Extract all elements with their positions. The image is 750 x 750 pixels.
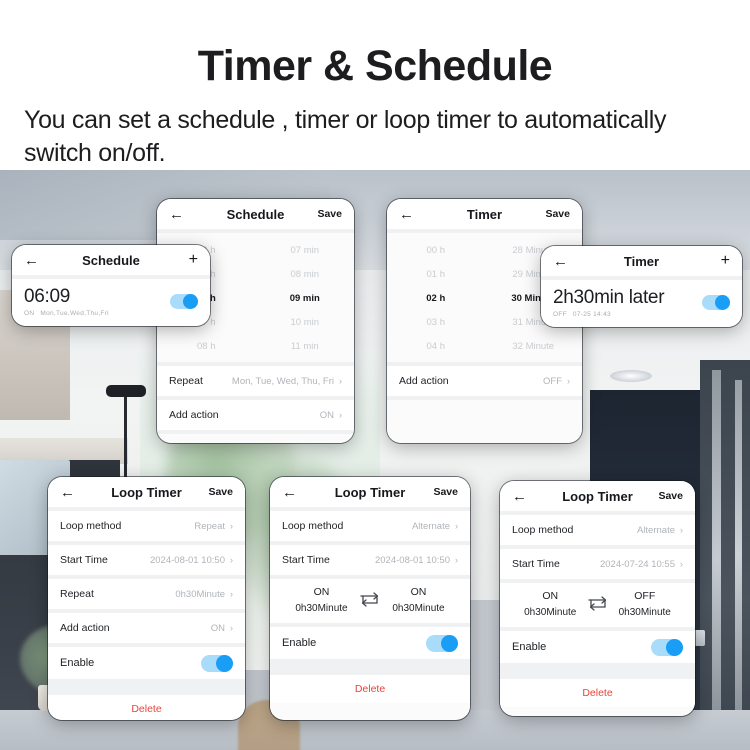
cycle-right-duration: 0h30Minute [611,607,680,618]
row-label: Loop method [60,520,194,532]
chevron-right-icon: › [230,555,233,565]
chevron-right-icon: › [230,623,233,633]
schedule-time: 06:09 [24,286,170,308]
back-arrow-icon[interactable]: ← [60,485,78,500]
cycle-left-state: ON [516,590,585,602]
row-label: Enable [282,637,426,649]
loop-arrows-icon [357,590,383,610]
row-value: OFF [543,376,562,387]
delete-row[interactable]: Delete [48,695,245,720]
picker-minute-selected: 09 min [256,293,355,304]
add-timer-icon[interactable]: + [721,253,730,269]
row-label: Add action [60,622,211,634]
picker-minute: 32 Minute [485,341,583,352]
card-header: ← Loop Timer Save [48,477,245,507]
bg-right-edge-b [735,380,742,730]
divider [270,659,470,675]
row-label: Repeat [60,588,175,600]
page-subtitle: You can set a schedule , timer or loop t… [24,104,726,169]
row-label: Enable [60,657,201,669]
cycle-row[interactable]: ON 0h30Minute OFF 0h30Minute [500,583,695,627]
loop-timer-repeat-card: ← Loop Timer Save Loop method Repeat › S… [48,477,245,720]
save-button[interactable]: Save [317,208,342,220]
picker-row[interactable]: 08 h 11 min [157,334,354,358]
toggle-knob [183,294,198,309]
timer-subtitle: OFF07-25 14:43 [553,311,702,318]
back-arrow-icon[interactable]: ← [169,207,187,222]
picker-hour: 03 h [387,317,485,328]
card-header: ← Loop Timer Save [270,477,470,507]
card-tail [270,703,470,715]
card-tail [500,707,695,716]
cycle-row[interactable]: ON 0h30Minute ON 0h30Minute [270,579,470,623]
picker-minute: 10 min [256,317,355,328]
card-tail [157,434,354,443]
cycle-right[interactable]: ON 0h30Minute [383,586,454,614]
start-time-row[interactable]: Start Time 2024-07-24 10:55 › [500,549,695,579]
cycle-left-duration: 0h30Minute [516,607,585,618]
row-label: Add action [399,375,543,387]
picker-minute: 07 min [256,245,355,256]
repeat-row[interactable]: Repeat 0h30Minute › [48,579,245,609]
row-value: Alternate [412,521,450,532]
row-label: Repeat [169,375,232,387]
cycle-left-state: ON [286,586,357,598]
timer-item-text: 2h30min later OFF07-25 14:43 [553,287,702,318]
timer-summary-card: ← Timer + 2h30min later OFF07-25 14:43 [541,246,742,327]
pendant-lamp-base [106,385,146,397]
card-title: Timer [541,254,742,269]
ceiling-light [610,370,652,382]
save-button[interactable]: Save [208,486,233,498]
chevron-right-icon: › [680,525,683,535]
delete-button[interactable]: Delete [355,683,385,695]
delete-row[interactable]: Delete [500,679,695,707]
row-value: 2024-08-01 10:50 [150,555,225,566]
row-label: Start Time [60,554,150,566]
save-button[interactable]: Save [658,490,683,502]
row-value: 2024-07-24 10:55 [600,559,675,570]
chevron-right-icon: › [455,555,458,565]
back-arrow-icon[interactable]: ← [512,489,530,504]
add-schedule-icon[interactable]: + [189,252,198,268]
picker-hour: 01 h [387,269,485,280]
row-value: Mon, Tue, Wed, Thu, Fri [232,376,334,387]
enable-toggle[interactable] [201,655,233,672]
row-label: Start Time [282,554,375,566]
header-banner: Timer & Schedule You can set a schedule … [0,0,750,170]
bg-right-column [700,360,750,750]
enable-row[interactable]: Enable [270,627,470,659]
toggle-knob [216,655,233,672]
picker-minute: 11 min [256,341,355,352]
cycle-right-state: ON [383,586,454,598]
chevron-right-icon: › [339,376,342,386]
schedule-list-item[interactable]: 06:09 ONMon,Tue,Wed,Thu,Fri [12,279,210,326]
schedule-summary-card: ← Schedule + 06:09 ONMon,Tue,Wed,Thu,Fri [12,245,210,326]
toggle-knob [666,639,683,656]
delete-button[interactable]: Delete [131,703,161,715]
card-header: ← Timer + [541,246,742,276]
page-title: Timer & Schedule [0,42,750,91]
enable-toggle[interactable] [426,635,458,652]
row-label: Loop method [282,520,412,532]
back-arrow-icon[interactable]: ← [553,254,571,269]
chevron-right-icon: › [455,521,458,531]
loop-timer-alternate-card: ← Loop Timer Save Loop method Alternate … [270,477,470,720]
cycle-left[interactable]: ON 0h30Minute [516,590,585,618]
divider [48,679,245,695]
row-label: Loop method [512,524,637,536]
loop-arrows-icon [585,594,611,614]
repeat-row[interactable]: Repeat Mon, Tue, Wed, Thu, Fri › [157,366,354,396]
back-arrow-icon[interactable]: ← [24,253,42,268]
save-button[interactable]: Save [433,486,458,498]
card-header: ← Timer Save [387,199,582,229]
cycle-left[interactable]: ON 0h30Minute [286,586,357,614]
row-value: 2024-08-01 10:50 [375,555,450,566]
picker-row[interactable]: 04 h 32 Minute [387,334,582,358]
row-value: ON [320,410,334,421]
picker-hour: 00 h [387,245,485,256]
start-time-row[interactable]: Start Time 2024-08-01 10:50 › [48,545,245,575]
chevron-right-icon: › [339,410,342,420]
loop-method-row[interactable]: Loop method Repeat › [48,511,245,541]
card-tail [387,400,582,443]
add-action-row[interactable]: Add action OFF › [387,366,582,396]
chevron-right-icon: › [567,376,570,386]
picker-hour: 04 h [387,341,485,352]
back-arrow-icon[interactable]: ← [399,207,417,222]
card-header: ← Loop Timer Save [500,481,695,511]
cycle-right[interactable]: OFF 0h30Minute [611,590,680,618]
enable-row[interactable]: Enable [48,647,245,679]
row-value: Repeat [194,521,225,532]
row-value: ON [211,623,225,634]
schedule-item-text: 06:09 ONMon,Tue,Wed,Thu,Fri [24,286,170,317]
card-header: ← Schedule + [12,245,210,275]
cycle-right-duration: 0h30Minute [383,603,454,614]
row-label: Enable [512,641,651,653]
loop-timer-alternate-offcard: ← Loop Timer Save Loop method Alternate … [500,481,695,716]
timer-toggle[interactable] [702,295,730,310]
row-label: Add action [169,409,320,421]
row-label: Start Time [512,558,600,570]
chevron-right-icon: › [230,521,233,531]
cycle-left-duration: 0h30Minute [286,603,357,614]
cycle-right-state: OFF [611,590,680,602]
bg-floor-foreground [0,745,600,750]
delete-button[interactable]: Delete [582,687,612,699]
chevron-right-icon: › [230,589,233,599]
schedule-days: Mon,Tue,Wed,Thu,Fri [40,310,109,317]
save-button[interactable]: Save [545,208,570,220]
start-time-row[interactable]: Start Time 2024-08-01 10:50 › [270,545,470,575]
bg-right-edge-a [712,370,721,750]
toggle-knob [715,295,730,310]
timer-state: OFF [553,311,567,318]
loop-method-row[interactable]: Loop method Alternate › [500,515,695,545]
toggle-knob [441,635,458,652]
schedule-toggle[interactable] [170,294,198,309]
delete-row[interactable]: Delete [270,675,470,703]
timer-timestamp: 07-25 14:43 [573,311,611,318]
timer-list-item[interactable]: 2h30min later OFF07-25 14:43 [541,280,742,327]
back-arrow-icon[interactable]: ← [282,485,300,500]
row-value: 0h30Minute [175,589,225,600]
chevron-right-icon: › [680,559,683,569]
loop-method-row[interactable]: Loop method Alternate › [270,511,470,541]
row-value: Alternate [637,525,675,536]
divider [500,663,695,679]
card-header: ← Schedule Save [157,199,354,229]
enable-row[interactable]: Enable [500,631,695,663]
picker-minute: 08 min [256,269,355,280]
schedule-state: ON [24,310,34,317]
picker-hour-selected: 02 h [387,293,485,304]
schedule-subtitle: ONMon,Tue,Wed,Thu,Fri [24,310,170,317]
add-action-row[interactable]: Add action ON › [157,400,354,430]
timer-countdown: 2h30min later [553,287,702,309]
enable-toggle[interactable] [651,639,683,656]
add-action-row[interactable]: Add action ON › [48,613,245,643]
picker-hour: 08 h [157,341,256,352]
